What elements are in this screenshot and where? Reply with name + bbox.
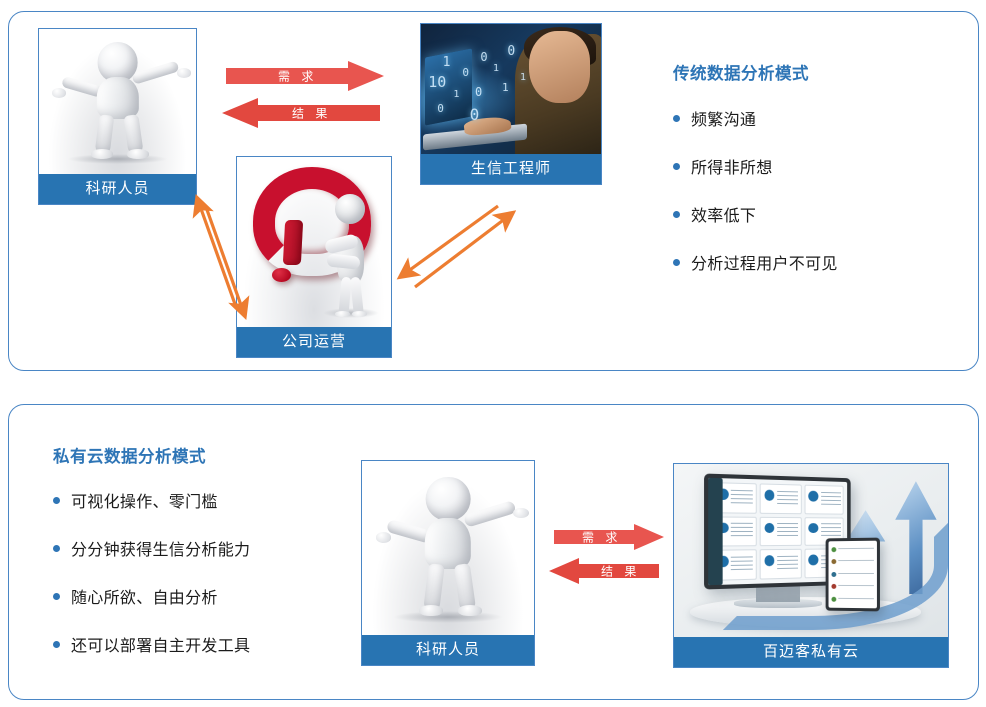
arrow-result-left-cloud: 结 果 [549, 558, 659, 584]
traditional-text-block: 传统数据分析模式 频繁沟通 所得非所想 效率低下 分析过程用户不可见 [673, 60, 963, 274]
arrow-demand-right: 需 求 [226, 61, 384, 91]
card-private-cloud[interactable]: 百迈客私有云 [673, 463, 949, 668]
traditional-bullet-list: 频繁沟通 所得非所想 效率低下 分析过程用户不可见 [673, 106, 963, 274]
bullet-label: 分分钟获得生信分析能力 [71, 536, 250, 560]
arrow-operations-engineer [395, 190, 515, 302]
private-cloud-photo [674, 464, 948, 637]
bullet-dot-icon [673, 115, 680, 122]
card-bioinformatics-engineer[interactable]: 1 10 0 0 1 1 0 1 0 0 1 0 生信工程师 [420, 23, 602, 185]
arrow-researcher-operations [184, 197, 259, 317]
card-label-researcher: 科研人员 [39, 174, 196, 204]
bullet-label: 效率低下 [691, 202, 756, 226]
bullet-label: 分析过程用户不可见 [691, 250, 838, 274]
bullet-dot-icon [673, 259, 680, 266]
list-item: 分析过程用户不可见 [673, 250, 963, 274]
thinking-mannequin-icon [316, 194, 387, 320]
card-label-engineer: 生信工程师 [421, 154, 601, 184]
arrow-result-label: 结 果 [292, 105, 331, 122]
question-mark-icon [237, 157, 391, 327]
arrow-result-label-cloud: 结 果 [601, 563, 640, 580]
list-item: 可视化操作、零门槛 [53, 488, 353, 512]
list-item: 分分钟获得生信分析能力 [53, 536, 353, 560]
card-label-private-cloud: 百迈客私有云 [674, 637, 948, 667]
card-label-operations: 公司运营 [237, 327, 391, 357]
bullet-label: 还可以部署自主开发工具 [71, 632, 250, 656]
white-mannequin-icon [39, 29, 196, 174]
bullet-dot-icon [673, 163, 680, 170]
cloud-text-block: 私有云数据分析模式 可视化操作、零门槛 分分钟获得生信分析能力 随心所欲、自由分… [53, 443, 353, 656]
monitor-tablet-arrows-icon [674, 464, 948, 637]
bullet-dot-icon [673, 211, 680, 218]
white-mannequin-icon [362, 461, 534, 635]
arrow-demand-label: 需 求 [278, 68, 317, 85]
researcher-photo [39, 29, 196, 174]
bullet-label: 所得非所想 [691, 154, 773, 178]
bullet-dot-icon [53, 545, 60, 552]
card-operations[interactable]: 公司运营 [236, 156, 392, 358]
traditional-title: 传统数据分析模式 [673, 60, 963, 84]
card-researcher[interactable]: 科研人员 [38, 28, 197, 205]
arrow-demand-label-cloud: 需 求 [582, 529, 621, 546]
list-item: 随心所欲、自由分析 [53, 584, 353, 608]
bullet-dot-icon [53, 593, 60, 600]
card-label-researcher-cloud: 科研人员 [362, 635, 534, 665]
bullet-dot-icon [53, 497, 60, 504]
arrow-demand-right-cloud: 需 求 [554, 524, 664, 550]
bullet-dot-icon [53, 641, 60, 648]
operations-photo [237, 157, 391, 327]
bullet-label: 频繁沟通 [691, 106, 756, 130]
traditional-data-analysis-panel: 科研人员 公司运营 [8, 11, 979, 371]
list-item: 频繁沟通 [673, 106, 963, 130]
card-researcher-cloud[interactable]: 科研人员 [361, 460, 535, 666]
private-cloud-data-analysis-panel: 私有云数据分析模式 可视化操作、零门槛 分分钟获得生信分析能力 随心所欲、自由分… [8, 404, 979, 700]
list-item: 效率低下 [673, 202, 963, 226]
bullet-label: 随心所欲、自由分析 [71, 584, 218, 608]
arrow-result-left: 结 果 [222, 98, 380, 128]
list-item: 所得非所想 [673, 154, 963, 178]
engineer-photo: 1 10 0 0 1 1 0 1 0 0 1 0 [421, 24, 601, 154]
bullet-label: 可视化操作、零门槛 [71, 488, 218, 512]
cloud-title: 私有云数据分析模式 [53, 443, 353, 467]
engineer-laptop-icon: 1 10 0 0 1 1 0 1 0 0 1 0 [421, 24, 601, 154]
researcher-photo-cloud [362, 461, 534, 635]
list-item: 还可以部署自主开发工具 [53, 632, 353, 656]
cloud-bullet-list: 可视化操作、零门槛 分分钟获得生信分析能力 随心所欲、自由分析 还可以部署自主开… [53, 488, 353, 656]
